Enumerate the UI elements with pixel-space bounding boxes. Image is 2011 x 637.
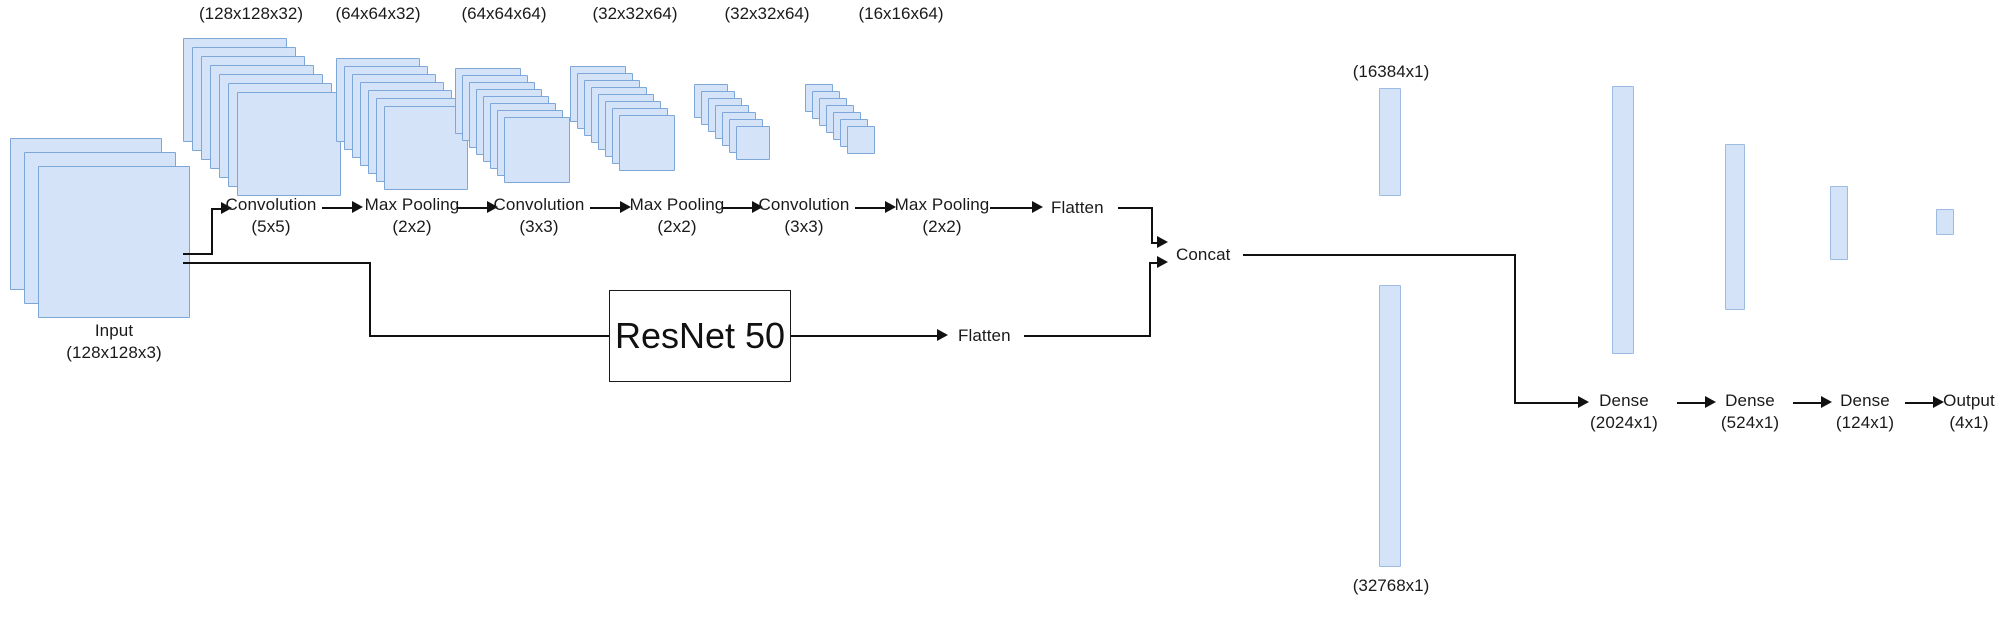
dense3-vector-bar [1830,186,1848,260]
arrow-pool1-conv2-line [457,207,489,209]
arrow-conv1-pool1-line [322,207,354,209]
op-conv3-name: Convolution [759,195,850,214]
output-name: Output [1943,391,1995,410]
concat-to-head-h1 [1243,254,1516,256]
input-to-resnet-h1 [183,262,370,264]
arrow-conv1-pool1-head [352,201,363,213]
arrow-conv2-pool2-line [590,207,622,209]
arrow-dense3-output-line [1905,402,1935,404]
op-conv3-param: (3x3) [784,217,823,236]
input-to-conv-h1 [183,253,213,255]
op-pool3-param: (2x2) [922,217,961,236]
op-conv2-name: Convolution [494,195,585,214]
op-conv1-param: (5x5) [251,217,290,236]
pool3-card-7 [847,126,875,154]
flatten-cnn-label: Flatten [1051,197,1104,218]
dense1-name: Dense [1599,391,1649,410]
head-label-dense2: Dense (524x1) [1721,390,1779,434]
op-pool2-name: Max Pooling [630,195,725,214]
arrow-pool3-flatten-line [990,207,1034,209]
flatten-resnet-shape-label: (32768x1) [1353,576,1430,596]
op-label-conv1: Convolution (5x5) [226,194,317,238]
flatten-resnet-to-concat-v [1149,262,1151,336]
input-label: Input (128x128x3) [66,320,162,364]
arrow-pool3-flatten-head [1032,201,1043,213]
op-label-pool1: Max Pooling (2x2) [365,194,460,238]
dim-label-conv3: (32x32x64) [724,4,809,24]
dense1-shape: (2024x1) [1590,413,1658,432]
input-shape: (128x128x3) [66,343,162,362]
output-shape: (4x1) [1949,413,1988,432]
dim-label-pool1: (64x64x32) [335,4,420,24]
arrow-resnet-flatten-head [937,329,948,341]
conv2-card-8 [504,117,570,183]
architecture-diagram: (128x128x32) (64x64x32) (64x64x64) (32x3… [0,0,2011,637]
concat-to-head-arrowhead [1578,396,1589,408]
flatten-cnn-to-concat-v [1151,207,1153,243]
resnet50-block[interactable]: ResNet 50 [609,290,791,382]
op-label-pool2: Max Pooling (2x2) [630,194,725,238]
input-to-resnet-h2 [369,335,609,337]
op-label-conv3: Convolution (3x3) [759,194,850,238]
head-label-dense3: Dense (124x1) [1836,390,1894,434]
op-label-pool3: Max Pooling (2x2) [895,194,990,238]
flatten-cnn-to-concat-head [1157,236,1168,248]
op-pool3-name: Max Pooling [895,195,990,214]
arrow-dense2-dense3-line [1793,402,1823,404]
head-label-output: Output (4x1) [1943,390,1995,434]
resnet50-label: ResNet 50 [615,315,785,357]
flatten-resnet-to-concat-head [1157,256,1168,268]
flatten-cnn-shape-label: (16384x1) [1353,62,1430,82]
arrow-dense2-dense3-head [1821,396,1832,408]
flatten-resnet-vector-bar [1379,285,1401,567]
concat-to-head-v [1514,254,1516,404]
output-vector-bar [1936,209,1954,235]
conv1-card-7 [237,92,341,196]
concat-to-head-h2 [1514,402,1580,404]
op-label-conv2: Convolution (3x3) [494,194,585,238]
arrow-pool2-conv3-line [722,207,754,209]
arrow-dense1-dense2-line [1677,402,1707,404]
dense2-shape: (524x1) [1721,413,1779,432]
op-pool1-param: (2x2) [392,217,431,236]
dense1-vector-bar [1612,86,1634,354]
input-name: Input [95,321,133,340]
arrow-dense1-dense2-head [1705,396,1716,408]
dim-label-conv2: (64x64x64) [461,4,546,24]
flatten-cnn-to-concat-h [1118,207,1153,209]
flatten-cnn-vector-bar [1379,88,1401,196]
flatten-resnet-to-concat-h [1024,335,1151,337]
op-pool2-param: (2x2) [657,217,696,236]
input-card-3 [38,166,190,318]
op-conv1-name: Convolution [226,195,317,214]
op-conv2-param: (3x3) [519,217,558,236]
dense3-name: Dense [1840,391,1890,410]
pool2-card-8 [619,115,675,171]
dense2-name: Dense [1725,391,1775,410]
arrow-conv3-pool3-line [855,207,887,209]
arrow-resnet-flatten-line [791,335,939,337]
concat-label: Concat [1176,244,1230,265]
input-to-resnet-v [369,262,371,336]
head-label-dense1: Dense (2024x1) [1590,390,1658,434]
dim-label-pool3: (16x16x64) [858,4,943,24]
flatten-resnet-label: Flatten [958,325,1011,346]
dim-label-conv1: (128x128x32) [199,4,303,24]
input-to-conv-v [211,208,213,254]
conv3-card-7 [736,126,770,160]
op-pool1-name: Max Pooling [365,195,460,214]
dense3-shape: (124x1) [1836,413,1894,432]
dim-label-pool2: (32x32x64) [592,4,677,24]
dense2-vector-bar [1725,144,1745,310]
